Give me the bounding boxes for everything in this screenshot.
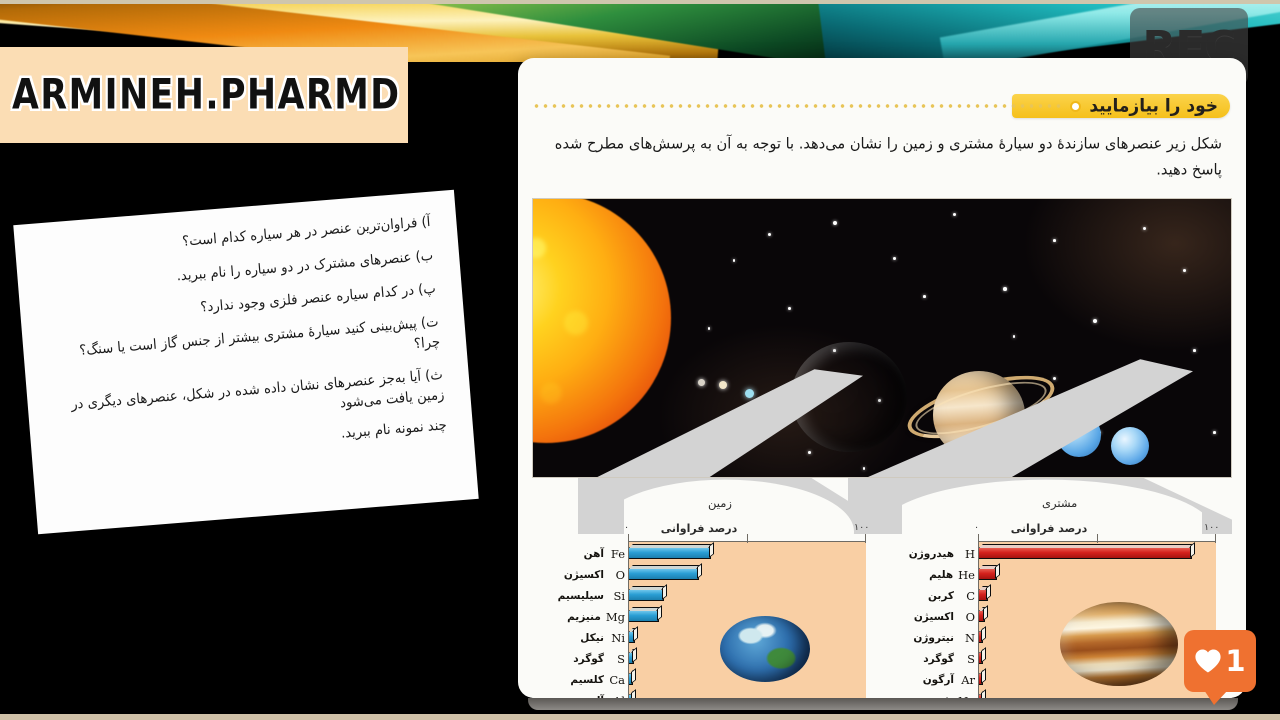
element-name-fa: آرگون	[923, 674, 954, 686]
chart-bar-top-face	[629, 544, 712, 548]
element-name-fa: هیدروژن	[909, 548, 954, 560]
chart-row-labels: کلسیمCa	[532, 673, 628, 687]
axis-tickmark-0	[628, 534, 629, 543]
chart-row-labels: گوگردS	[532, 652, 628, 666]
chart-bar	[628, 589, 664, 601]
axis-tickmark-100	[865, 534, 866, 543]
axis-tick-min: ۰	[974, 522, 979, 533]
element-name-fa: گوگرد	[573, 653, 604, 665]
chart-bar	[628, 547, 711, 559]
chart-rows: آهنFeاکسیژنOسیلیسیمSiمنیزیمMgنیکلNiگوگرد…	[532, 543, 866, 698]
chart-bar-track	[628, 585, 866, 606]
axis-tickmark-50	[747, 534, 748, 543]
element-name-fa: منیزیم	[567, 611, 601, 623]
chart-bar	[628, 631, 635, 643]
chart-bar-row: آهنFe	[532, 543, 866, 564]
chart-bar-track	[978, 690, 1216, 698]
axis-tickmark-0	[978, 534, 979, 543]
chart-bar-row: سیلیسیمSi	[532, 585, 866, 606]
chart-bar-end-face	[983, 605, 988, 621]
chart-bar-end-face	[1190, 542, 1195, 558]
textbook-page-card: خود را بیازمایید شکل زیر عنصرهای سازندۀ …	[518, 58, 1246, 698]
chart-bar-end-face	[697, 563, 702, 579]
chart-bar-track	[628, 543, 866, 564]
chart-bar	[978, 610, 985, 622]
chart-row-labels: نیتروژنN	[882, 631, 978, 645]
jupiter-thumbnail-image	[1060, 602, 1178, 686]
chart-earth-composition: درصد فراوانی ۰ ۱۰۰ آهنFeاکسیژنOسیلیسیمSi…	[532, 524, 866, 698]
heart-icon	[1194, 648, 1222, 674]
chart-row-labels: اکسیژنO	[882, 610, 978, 624]
chart-bar-top-face	[979, 544, 1193, 548]
element-symbol: O	[609, 568, 625, 582]
element-symbol: Ni	[609, 631, 625, 645]
chart-row-labels: اکسیژنO	[532, 568, 628, 582]
chart-planet-label-earth: زمین	[708, 496, 732, 510]
chart-bar	[978, 589, 988, 601]
element-symbol: Si	[609, 589, 625, 603]
element-name-fa: اکسیژن	[914, 611, 954, 623]
element-name-fa: کلسیم	[570, 674, 604, 686]
element-symbol: Ar	[959, 673, 975, 687]
chart-bar-end-face	[657, 605, 662, 621]
chart-row-labels: آرگونAr	[882, 673, 978, 687]
chart-bar-end-face	[981, 668, 986, 684]
element-symbol: S	[609, 652, 625, 666]
chart-bar-end-face	[981, 647, 986, 663]
chart-bar-row: نیکلNi	[532, 627, 866, 648]
chart-bar-row: آلومینیمAl	[532, 690, 866, 698]
chart-bar-track	[978, 564, 1216, 585]
chart-planet-label-jupiter: مشتری	[1042, 496, 1077, 510]
chart-bar-track	[978, 543, 1216, 564]
chart-bar-row: آرگونAr	[882, 669, 1216, 690]
chart-bar-end-face	[995, 563, 1000, 579]
chart-bar	[978, 547, 1192, 559]
element-name-fa: گوگرد	[923, 653, 954, 665]
dotted-rule	[532, 102, 1064, 110]
chart-row-labels: نیکلNi	[532, 631, 628, 645]
bullet-dot-icon	[1070, 101, 1081, 112]
chart-bar-row: کربنC	[882, 585, 1216, 606]
chart-row-labels: منیزیمMg	[532, 610, 628, 624]
element-name-fa: آهن	[584, 548, 604, 560]
chart-bar-end-face	[631, 668, 636, 684]
chart-bar	[978, 568, 997, 580]
element-name-fa: هلیم	[929, 569, 953, 581]
chart-bar-end-face	[986, 584, 991, 600]
chart-axis-title: درصد فراوانی	[532, 522, 866, 535]
chart-row-labels: آهنFe	[532, 547, 628, 561]
chart-bar-track	[628, 690, 866, 698]
element-name-fa: کربن	[928, 590, 954, 602]
like-badge[interactable]: 1	[1184, 630, 1256, 692]
bottom-edge-line	[0, 714, 1280, 720]
axis-tick-max: ۱۰۰	[1204, 522, 1219, 533]
chart-bar-track	[628, 564, 866, 585]
element-symbol: He	[958, 568, 975, 582]
earth-thumbnail-image	[720, 616, 810, 682]
axis-tickmark-50	[1097, 534, 1098, 543]
question-card: آ) فراوان‌ترین عنصر در هر سیاره کدام است…	[13, 190, 478, 534]
chart-bar-row: هیدروژنH	[882, 543, 1216, 564]
element-symbol: H	[959, 547, 975, 561]
chart-bar-row: منیزیمMg	[532, 606, 866, 627]
element-name-fa: اکسیژن	[564, 569, 604, 581]
section-heading: خود را بیازمایید	[518, 82, 1246, 130]
chart-axis-title: درصد فراوانی	[882, 522, 1216, 535]
chart-row-labels: هیدروژنH	[882, 547, 978, 561]
chart-bar	[628, 610, 659, 622]
chart-bar-track	[978, 585, 1216, 606]
chart-y-axis	[628, 541, 629, 698]
watermark-text: ARMINEH.PHARMD	[12, 71, 401, 120]
intro-paragraph: شکل زیر عنصرهای سازندۀ دو سیارۀ مشتری و …	[518, 129, 1246, 183]
element-symbol: Mg	[606, 610, 625, 624]
axis-tick-min: ۰	[624, 522, 629, 533]
axis-tick-max: ۱۰۰	[854, 522, 869, 533]
element-symbol: O	[959, 610, 975, 624]
chart-bar-end-face	[981, 626, 986, 642]
element-symbol: S	[959, 652, 975, 666]
solar-system-photo	[532, 198, 1232, 478]
chart-bar-row: کلسیمCa	[532, 669, 866, 690]
neptune-image	[1111, 427, 1149, 465]
element-symbol: C	[959, 589, 975, 603]
chart-jupiter-composition: درصد فراوانی ۰ ۱۰۰ هیدروژنHهلیمHeکربنCاک…	[882, 524, 1216, 698]
chart-bar-top-face	[629, 607, 660, 611]
chart-row-labels: سیلیسیمSi	[532, 589, 628, 603]
element-symbol: Ca	[609, 673, 625, 687]
question-list: آ) فراوان‌ترین عنصر در هر سیاره کدام است…	[41, 214, 448, 467]
like-count: 1	[1225, 647, 1245, 676]
chart-bar-end-face	[632, 647, 637, 663]
element-name-fa: نیکل	[580, 632, 604, 644]
element-name-fa: سیلیسیم	[558, 590, 604, 602]
chart-bar-row: نئونNe	[882, 690, 1216, 698]
chart-row-labels: گوگردS	[882, 652, 978, 666]
element-symbol: Fe	[609, 547, 625, 561]
axis-tickmark-100	[1215, 534, 1216, 543]
chart-bar-end-face	[633, 626, 638, 642]
chart-bar-row: هلیمHe	[882, 564, 1216, 585]
chart-bar-end-face	[662, 584, 667, 600]
element-symbol: N	[959, 631, 975, 645]
chart-bar-row: اکسیژنO	[532, 564, 866, 585]
watermark-banner: ARMINEH.PHARMD	[0, 47, 408, 143]
chart-row-labels: کربنC	[882, 589, 978, 603]
chart-bar-top-face	[629, 586, 665, 590]
chart-y-axis	[978, 541, 979, 698]
chart-bar	[628, 568, 699, 580]
chart-row-labels: هلیمHe	[882, 568, 978, 582]
chart-bar-top-face	[629, 565, 700, 569]
element-name-fa: نیتروژن	[913, 632, 954, 644]
charts-area: زمین مشتری درصد فراوانی ۰ ۱۰۰ آهنFeاکسیژ…	[532, 478, 1232, 698]
chart-bar-end-face	[709, 542, 714, 558]
page-title: خود را بیازمایید	[1083, 95, 1228, 116]
top-edge-line	[0, 0, 1280, 4]
card-shadow-strip	[528, 698, 1238, 710]
chart-bar-row: گوگردS	[532, 648, 866, 669]
